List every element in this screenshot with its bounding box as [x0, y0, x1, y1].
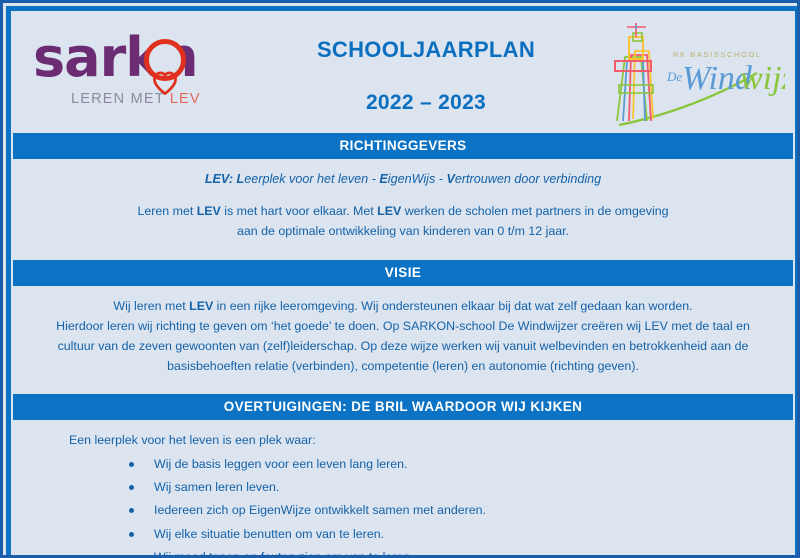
- richtinggevers-paragraph-line2: aan de optimale ontwikkeling van kindere…: [41, 221, 765, 241]
- section-heading-overtuigingen: OVERTUIGINGEN: DE BRIL WAARDOOR WIJ KIJK…: [13, 394, 793, 420]
- document-inner: sarkn LEREN MET LEV SCHOOLJAARPLAN 2022 …: [11, 11, 795, 553]
- visie-line-1: Wij leren met LEV in een rijke leeromgev…: [41, 296, 765, 316]
- motto-part3-bold: V: [446, 172, 454, 186]
- heart-icon: [152, 47, 178, 73]
- paragraph-text-a: Leren met: [137, 204, 196, 218]
- list-item: Iedereen zich op EigenWijze ontwikkelt s…: [129, 501, 765, 520]
- paragraph-bold-lev-2: LEV: [377, 204, 401, 218]
- section-body-richtinggevers: LEV: Leerplek voor het leven - EigenWijs…: [11, 159, 795, 254]
- visie-line-4: basisbehoeften relatie (verbinden), comp…: [41, 356, 765, 376]
- school-year: 2022 – 2023: [281, 91, 571, 115]
- paragraph-text-c: werken de scholen met partners in de omg…: [401, 204, 668, 218]
- title-block: SCHOOLJAARPLAN 2022 – 2023: [281, 37, 571, 115]
- list-item: Wij moed tonen en fouten zien om van te …: [129, 548, 765, 558]
- paragraph-text-b: is met hart voor elkaar. Met: [221, 204, 377, 218]
- motto-lev-label: LEV:: [205, 172, 233, 186]
- overtuigingen-list: Wij de basis leggen voor een leven lang …: [41, 455, 765, 558]
- page-title: SCHOOLJAARPLAN: [281, 37, 571, 63]
- motto-part1-rest: eerplek voor het leven -: [244, 172, 379, 186]
- section-heading-richtinggevers: RICHTINGGEVERS: [13, 133, 793, 159]
- visie-text-b: in een rijke leeromgeving. Wij ondersteu…: [213, 299, 692, 313]
- paragraph-bold-lev-1: LEV: [197, 204, 221, 218]
- svg-text:RK BASISSCHOOL: RK BASISSCHOOL: [673, 50, 762, 59]
- list-item: Wij de basis leggen voor een leven lang …: [129, 455, 765, 474]
- visie-text-a: Wij leren met: [113, 299, 189, 313]
- section-body-overtuigingen: Een leerplek voor het leven is een plek …: [11, 420, 795, 558]
- overtuigingen-intro: Een leerplek voor het leven is een plek …: [41, 430, 765, 450]
- motto-part2-bold: E: [379, 172, 387, 186]
- visie-line-3: cultuur van de zeven gewoonten van (zelf…: [41, 336, 765, 356]
- schooljaarplan-document: sarkn LEREN MET LEV SCHOOLJAARPLAN 2022 …: [0, 0, 800, 558]
- sarkon-wordmark: sarkn: [33, 27, 248, 89]
- list-item: Wij samen leren leven.: [129, 478, 765, 497]
- list-item: Wij elke situatie benutten om van te ler…: [129, 525, 765, 544]
- svg-text:wijzer: wijzer: [740, 60, 785, 97]
- document-header: sarkn LEREN MET LEV SCHOOLJAARPLAN 2022 …: [11, 11, 795, 133]
- section-heading-visie: VISIE: [13, 260, 793, 286]
- section-body-visie: Wij leren met LEV in een rijke leeromgev…: [11, 286, 795, 388]
- visie-line-2: Hierdoor leren wij richting te geven om …: [41, 316, 765, 336]
- motto-part3-rest: ertrouwen door verbinding: [455, 172, 601, 186]
- windwijzer-logo: RK BASISSCHOOL De Wind wijzer: [589, 21, 785, 129]
- richtinggevers-motto: LEV: Leerplek voor het leven - EigenWijs…: [41, 169, 765, 189]
- richtinggevers-paragraph-line1: Leren met LEV is met hart voor elkaar. M…: [41, 201, 765, 221]
- motto-part2-rest: igenWijs -: [388, 172, 447, 186]
- visie-bold-lev: LEV: [189, 299, 213, 313]
- svg-text:De: De: [666, 69, 682, 84]
- sarkon-logo: sarkn LEREN MET LEV: [33, 27, 248, 119]
